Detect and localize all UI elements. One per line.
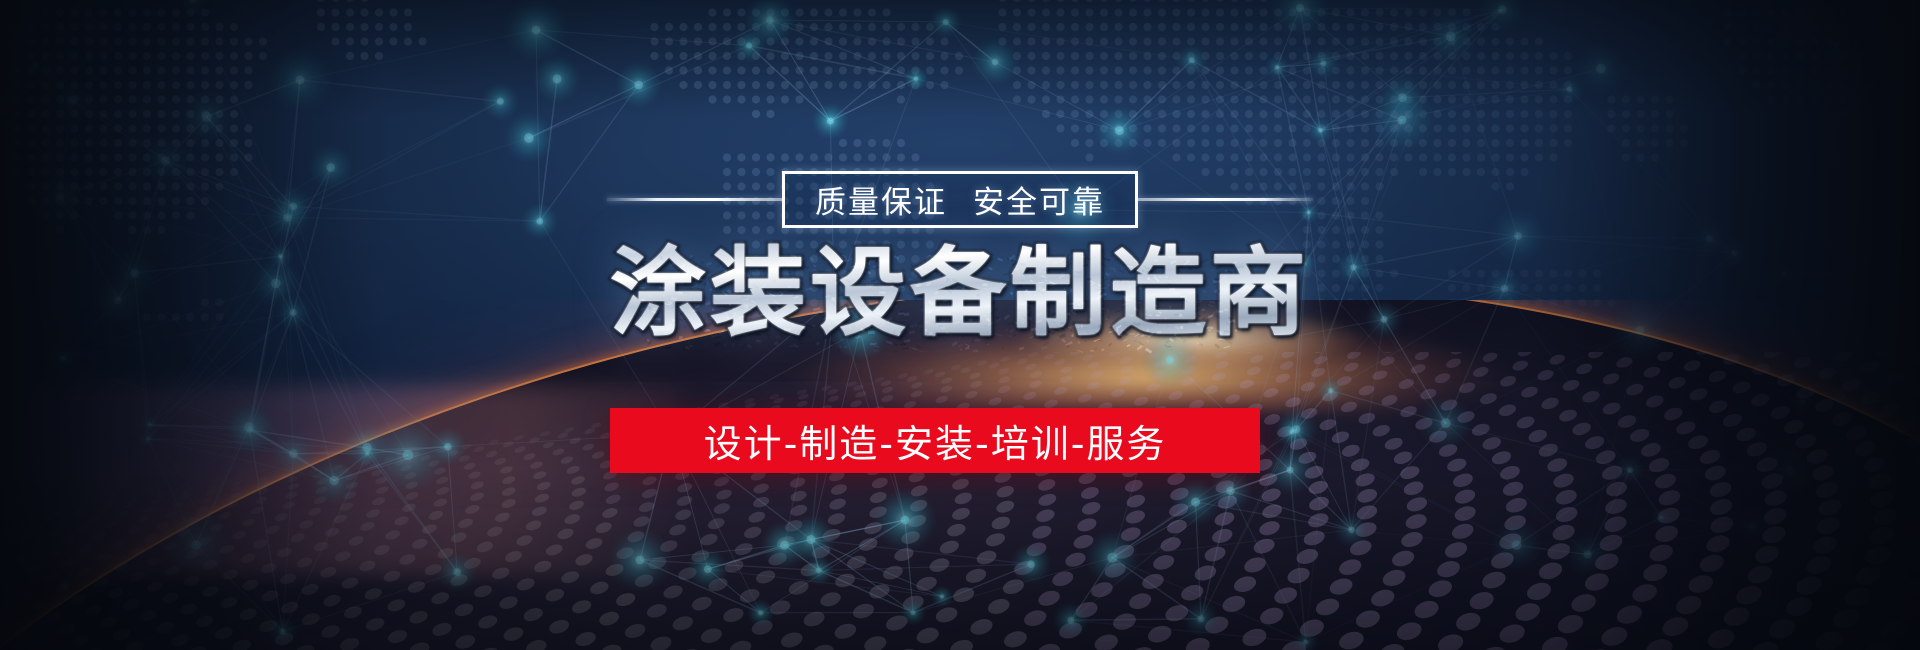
tagline-box: 质量保证安全可靠 (782, 171, 1138, 228)
tagline-part-1: 质量保证 (815, 185, 947, 221)
services-ribbon-text: 设计-制造-安装-培训-服务 (704, 413, 1167, 468)
tagline-rule-left (607, 198, 782, 201)
tagline-text: 质量保证安全可靠 (815, 177, 1105, 222)
tagline-rule-right (1138, 198, 1313, 201)
services-ribbon: 设计-制造-安装-培训-服务 (610, 408, 1260, 473)
tagline-part-2: 安全可靠 (973, 185, 1105, 221)
tagline-row: 质量保证安全可靠 (0, 170, 1920, 228)
page-title: 涂装设备制造商 (0, 242, 1920, 346)
banner-content: 质量保证安全可靠 涂装设备制造商 涂装设备制造商 设计-制造-安装-培训-服务 (0, 0, 1920, 650)
hero-banner: 质量保证安全可靠 涂装设备制造商 涂装设备制造商 设计-制造-安装-培训-服务 (0, 0, 1920, 650)
